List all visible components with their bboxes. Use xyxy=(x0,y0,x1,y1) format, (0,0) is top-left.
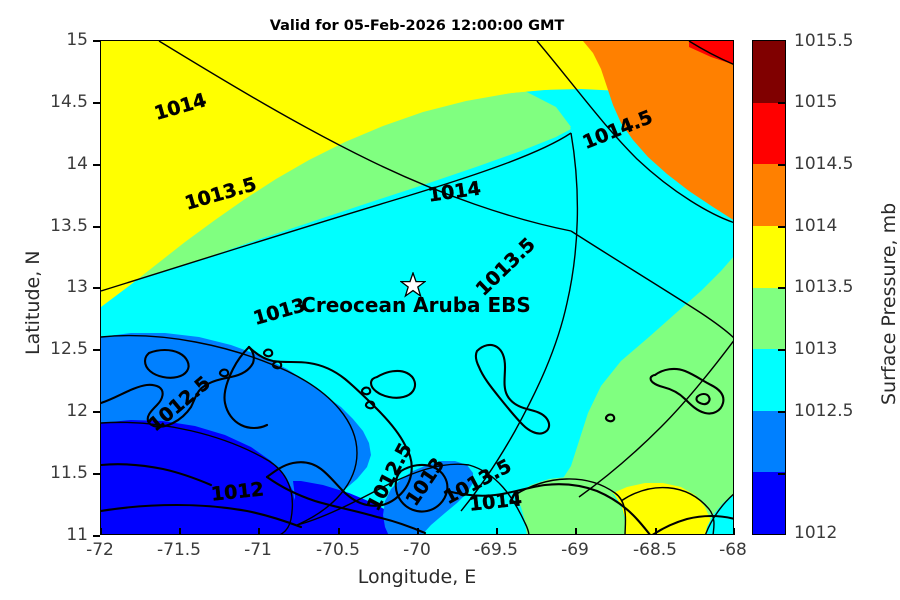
colorbar-tickmark xyxy=(778,164,786,166)
colorbar-band-lowest xyxy=(753,472,785,534)
colorbar-tickmark xyxy=(778,349,786,351)
colorbar-band-1015 xyxy=(753,41,785,103)
y-tickmark xyxy=(93,226,100,228)
colorbar-tickmark xyxy=(778,102,786,104)
colorbar-tick-label: 1013 xyxy=(794,339,837,359)
y-axis-label: Latitude, N xyxy=(22,251,44,356)
colorbar-band-1013_5 xyxy=(753,226,785,288)
colorbar-band-1012 xyxy=(753,411,785,473)
colorbar-band-1014 xyxy=(753,164,785,226)
colorbar-tick-label: 1012.5 xyxy=(794,401,853,421)
y-tick-label: 14 xyxy=(28,154,88,174)
y-tickmark xyxy=(93,164,100,166)
x-tickmark xyxy=(100,528,102,535)
x-tickmark xyxy=(179,528,181,535)
y-tickmark xyxy=(93,411,100,413)
colorbar-tickmark xyxy=(778,473,786,475)
x-tickmark xyxy=(655,528,657,535)
colorbar-tick-label: 1014.5 xyxy=(794,154,853,174)
x-axis-label: Longitude, E xyxy=(100,566,734,588)
contour-plot-area[interactable]: Creocean Aruba EBS 1014 1014.5 1013.5 10… xyxy=(100,40,734,535)
x-tickmark xyxy=(733,528,735,535)
x-tick-label: -69 xyxy=(561,540,589,560)
y-tick-label: 12 xyxy=(28,401,88,421)
x-tick-label: -72 xyxy=(86,540,114,560)
colorbar-axis-label: Surface Pressure, mb xyxy=(878,203,900,405)
y-tickmark xyxy=(93,40,100,42)
x-tick-label: -70 xyxy=(403,540,431,560)
y-tick-label: 11 xyxy=(28,525,88,545)
y-tickmark xyxy=(93,102,100,104)
x-tick-label: -68.5 xyxy=(633,540,677,560)
figure-root: Valid for 05-Feb-2026 12:00:00 GMT xyxy=(0,0,900,600)
x-tickmark xyxy=(575,528,577,535)
figure-title: Valid for 05-Feb-2026 12:00:00 GMT xyxy=(100,18,734,34)
y-tickmark xyxy=(93,287,100,289)
colorbar-tick-label: 1013.5 xyxy=(794,277,853,297)
y-tick-label: 15 xyxy=(28,30,88,50)
colorbar-band-1014_5 xyxy=(753,103,785,165)
colorbar-tick-label: 1015.5 xyxy=(794,31,853,51)
station-label: Creocean Aruba EBS xyxy=(301,293,531,317)
colorbar-tick-label: 1012 xyxy=(794,523,837,543)
colorbar-tickmark xyxy=(778,287,786,289)
x-tick-label: -71 xyxy=(244,540,272,560)
colorbar-tickmark xyxy=(778,411,786,413)
colorbar-tick-label: 1014 xyxy=(794,216,837,236)
colorbar-tick-label: 1015 xyxy=(794,92,837,112)
x-tick-label: -70.5 xyxy=(316,540,360,560)
colorbar-tickmark xyxy=(778,226,786,228)
x-tick-label: -68 xyxy=(719,540,747,560)
y-tickmark xyxy=(93,349,100,351)
y-tickmark xyxy=(93,473,100,475)
colorbar-band-1013 xyxy=(753,288,785,350)
x-tickmark xyxy=(417,528,419,535)
y-tickmark xyxy=(93,535,100,537)
x-tickmark xyxy=(338,528,340,535)
y-tick-label: 11.5 xyxy=(28,463,88,483)
y-tick-label: 13.5 xyxy=(28,216,88,236)
x-tick-label: -71.5 xyxy=(157,540,201,560)
y-tick-label: 14.5 xyxy=(28,92,88,112)
x-tickmark xyxy=(258,528,260,535)
colorbar-band-1012_5 xyxy=(753,349,785,411)
x-tickmark xyxy=(496,528,498,535)
x-tick-label: -69.5 xyxy=(474,540,518,560)
